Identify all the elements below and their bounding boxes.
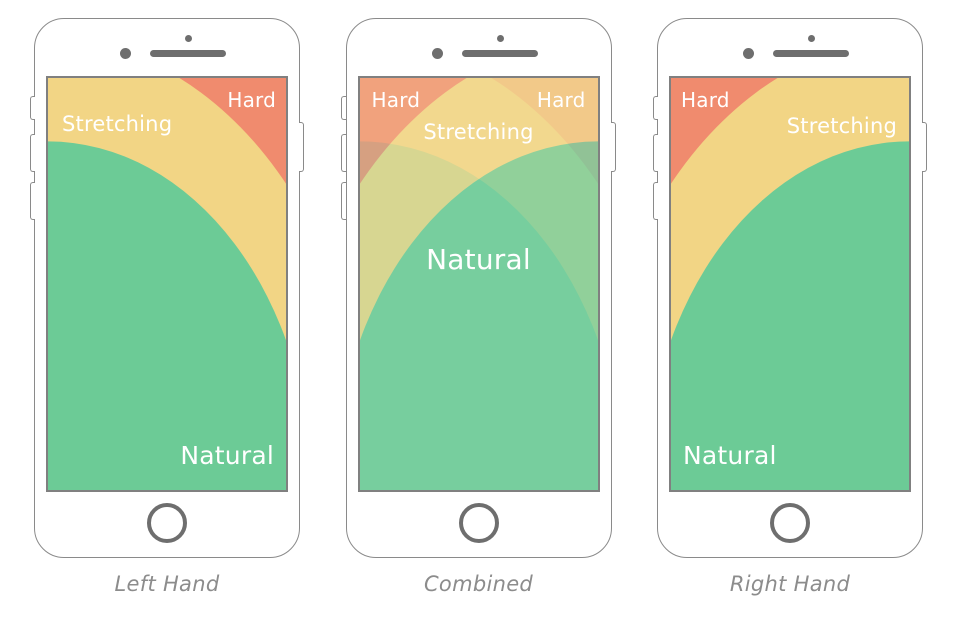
mute-switch-icon[interactable] xyxy=(341,96,346,120)
home-button-icon[interactable] xyxy=(147,503,187,543)
volume-down-button-icon[interactable] xyxy=(653,182,658,220)
reach-zone-map-left-hand xyxy=(48,78,286,490)
power-button-icon[interactable] xyxy=(922,122,927,172)
phone-caption-right-hand: Right Hand xyxy=(730,572,850,596)
phone-caption-left-hand: Left Hand xyxy=(115,572,220,596)
reach-zone-map-right-overlay xyxy=(360,78,598,490)
volume-up-button-icon[interactable] xyxy=(341,134,346,172)
phone-illustration-right-hand: Stretching Hard Natural xyxy=(657,18,923,558)
earpiece-speaker-icon xyxy=(773,50,849,57)
phone-unit-right-hand: Stretching Hard Natural Right Hand xyxy=(645,0,935,618)
phone-screen-combined[interactable]: Hard Hard Stretching Natural xyxy=(358,76,600,492)
camera-icon xyxy=(185,35,192,42)
proximity-sensor-icon xyxy=(432,48,443,59)
earpiece-speaker-icon xyxy=(150,50,226,57)
phone-illustration-combined: Hard Hard Stretching Natural xyxy=(346,18,612,558)
home-button-icon[interactable] xyxy=(459,503,499,543)
phone-unit-left-hand: Stretching Hard Natural Left Hand xyxy=(22,0,312,618)
camera-icon xyxy=(497,35,504,42)
proximity-sensor-icon xyxy=(743,48,754,59)
phone-illustration-left-hand: Stretching Hard Natural xyxy=(34,18,300,558)
earpiece-speaker-icon xyxy=(462,50,538,57)
volume-up-button-icon[interactable] xyxy=(30,134,35,172)
power-button-icon[interactable] xyxy=(611,122,616,172)
mute-switch-icon[interactable] xyxy=(653,96,658,120)
volume-down-button-icon[interactable] xyxy=(30,182,35,220)
phone-caption-combined: Combined xyxy=(424,572,533,596)
volume-up-button-icon[interactable] xyxy=(653,134,658,172)
volume-down-button-icon[interactable] xyxy=(341,182,346,220)
proximity-sensor-icon xyxy=(120,48,131,59)
phone-screen-left-hand[interactable]: Stretching Hard Natural xyxy=(46,76,288,492)
power-button-icon[interactable] xyxy=(299,122,304,172)
home-button-icon[interactable] xyxy=(770,503,810,543)
phone-comparison-figure: Stretching Hard Natural Left Hand xyxy=(0,0,957,618)
phone-unit-combined: Hard Hard Stretching Natural Combined xyxy=(334,0,624,618)
reach-zone-map-right-hand xyxy=(671,78,909,490)
phone-screen-right-hand[interactable]: Stretching Hard Natural xyxy=(669,76,911,492)
camera-icon xyxy=(808,35,815,42)
mute-switch-icon[interactable] xyxy=(30,96,35,120)
